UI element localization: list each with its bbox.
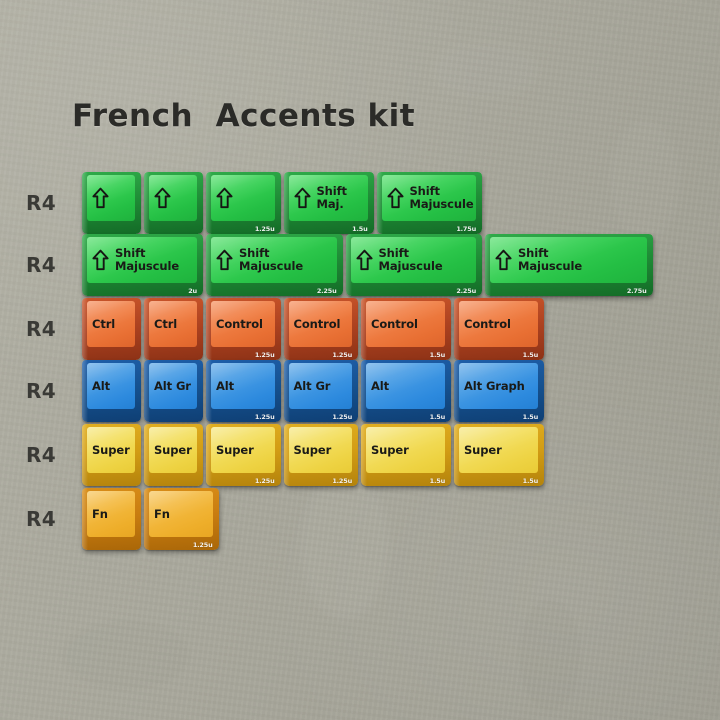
keycap-top-surface — [211, 175, 275, 221]
keycap[interactable]: Super — [82, 424, 141, 486]
keycap-size-label: 2u — [188, 287, 197, 295]
keycap-size-label: 1.25u — [255, 477, 275, 485]
keycap-top-surface — [87, 491, 135, 537]
keycap-size-label: 1.25u — [193, 541, 213, 549]
keycap-row: R4CtrlCtrlControl1.25uControl1.25uContro… — [0, 298, 720, 360]
keycap[interactable]: Fn1.25u — [144, 488, 219, 550]
keycap-size-label: 1.75u — [456, 225, 476, 233]
keycap-top-surface — [382, 175, 477, 221]
keycap-top-surface — [87, 363, 135, 409]
keycap-top-surface — [149, 175, 197, 221]
keycap[interactable]: Alt Graph1.5u — [454, 360, 544, 422]
keycap[interactable]: Alt1.5u — [361, 360, 451, 422]
keycap-top-surface — [149, 427, 197, 473]
row-label: R4 — [26, 253, 56, 277]
keycap-row: R4AltAlt GrAlt1.25uAlt Gr1.25uAlt1.5uAlt… — [0, 360, 720, 422]
keycap-row: R4SuperSuperSuper1.25uSuper1.25uSuper1.5… — [0, 424, 720, 486]
keycap-top-surface — [459, 427, 538, 473]
keycap-size-label: 1.25u — [332, 413, 352, 421]
keycap-size-label: 1.25u — [332, 477, 352, 485]
keycap-top-surface — [87, 175, 135, 221]
keycap-top-surface — [87, 301, 135, 347]
row-label: R4 — [26, 317, 56, 341]
row-label: R4 — [26, 443, 56, 467]
row-label: R4 — [26, 191, 56, 215]
keycap-top-surface — [149, 491, 213, 537]
keycap-top-surface — [289, 301, 353, 347]
keycap[interactable] — [144, 172, 203, 234]
keycap-top-surface — [211, 427, 275, 473]
keycap[interactable]: Control1.25u — [284, 298, 359, 360]
keycap-top-surface — [211, 237, 337, 283]
keycap-row: R4 1.25u Shift Maj.1.5u Shift Majuscule1… — [0, 172, 720, 234]
keycap[interactable]: Super1.25u — [284, 424, 359, 486]
keycap-top-surface — [459, 301, 538, 347]
keycap[interactable]: Shift Majuscule2.75u — [485, 234, 653, 296]
keycap-top-surface — [289, 175, 368, 221]
keycap-size-label: 1.5u — [523, 351, 538, 359]
keycap-size-label: 1.5u — [430, 413, 445, 421]
keycap-top-surface — [289, 363, 353, 409]
keycap-top-surface — [149, 301, 197, 347]
keycap-size-label: 1.5u — [430, 477, 445, 485]
keycap[interactable]: Control1.5u — [454, 298, 544, 360]
keycap-top-surface — [87, 237, 197, 283]
keycap-size-label: 2.75u — [627, 287, 647, 295]
keycap-size-label: 1.5u — [430, 351, 445, 359]
keycap-size-label: 1.25u — [255, 351, 275, 359]
keycap-top-surface — [87, 427, 135, 473]
keycap-top-surface — [351, 237, 477, 283]
keycap-size-label: 2.25u — [456, 287, 476, 295]
keycap-top-surface — [366, 427, 445, 473]
keycap-top-surface — [366, 363, 445, 409]
keycap[interactable]: Shift Majuscule2u — [82, 234, 203, 296]
keycap[interactable]: Control1.25u — [206, 298, 281, 360]
keycap[interactable]: Control1.5u — [361, 298, 451, 360]
keycap-top-surface — [211, 363, 275, 409]
keycap-size-label: 1.25u — [255, 413, 275, 421]
keycap-top-surface — [211, 301, 275, 347]
keycap-size-label: 2.25u — [317, 287, 337, 295]
page-title: French Accents kit — [72, 98, 415, 134]
keycap-size-label: 1.25u — [255, 225, 275, 233]
keycap[interactable]: Shift Maj.1.5u — [284, 172, 374, 234]
keycap[interactable]: Super1.25u — [206, 424, 281, 486]
keycap[interactable]: Shift Majuscule1.75u — [377, 172, 483, 234]
keycap[interactable]: 1.25u — [206, 172, 281, 234]
keycap-top-surface — [289, 427, 353, 473]
keycap[interactable]: Super1.5u — [454, 424, 544, 486]
keycap[interactable]: Super — [144, 424, 203, 486]
keycap-row: R4FnFn1.25u — [0, 488, 720, 550]
keycap[interactable]: Fn — [82, 488, 141, 550]
keycap-size-label: 1.5u — [523, 413, 538, 421]
keycap-top-surface — [490, 237, 647, 283]
keycap[interactable]: Shift Majuscule2.25u — [206, 234, 343, 296]
keycap[interactable]: Alt Gr1.25u — [284, 360, 359, 422]
keycap[interactable] — [82, 172, 141, 234]
keycap-row: R4 Shift Majuscule2u Shift Majuscule2.25… — [0, 234, 720, 296]
keycap[interactable]: Shift Majuscule2.25u — [346, 234, 483, 296]
keycap[interactable]: Alt — [82, 360, 141, 422]
keycap-size-label: 1.5u — [352, 225, 367, 233]
keycap[interactable]: Ctrl — [144, 298, 203, 360]
row-label: R4 — [26, 507, 56, 531]
keycap[interactable]: Super1.5u — [361, 424, 451, 486]
keycap-top-surface — [366, 301, 445, 347]
keycap[interactable]: Alt Gr — [144, 360, 203, 422]
row-label: R4 — [26, 379, 56, 403]
keycap[interactable]: Alt1.25u — [206, 360, 281, 422]
keycap[interactable]: Ctrl — [82, 298, 141, 360]
keycap-size-label: 1.25u — [332, 351, 352, 359]
keycap-top-surface — [459, 363, 538, 409]
keycap-size-label: 1.5u — [523, 477, 538, 485]
keycap-top-surface — [149, 363, 197, 409]
